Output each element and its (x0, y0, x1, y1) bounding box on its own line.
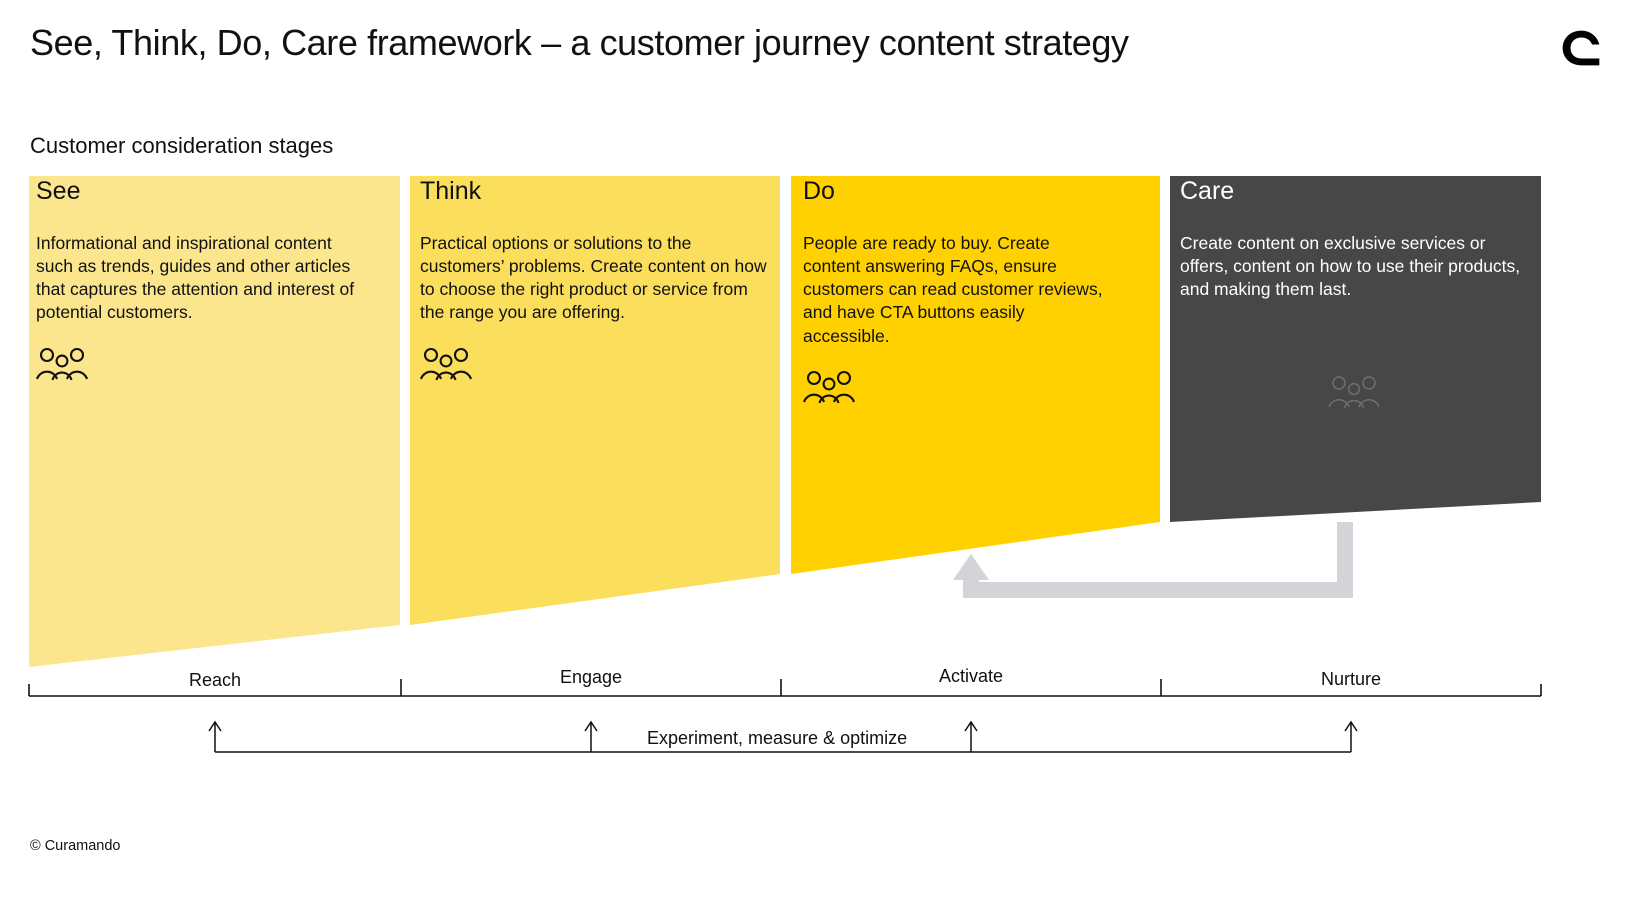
care-to-do-loop-arrow (953, 522, 1353, 598)
stage-title-see: See (36, 178, 366, 206)
stage-description-see: Informational and inspirational content … (36, 232, 366, 325)
group-people-icon (1328, 375, 1530, 414)
stage-board: See Informational and inspirational cont… (0, 170, 1627, 680)
page-title: See, Think, Do, Care framework – a custo… (30, 22, 1129, 64)
stage-panel-do[interactable]: Do People are ready to buy. Create conte… (803, 178, 1103, 409)
experiment-label: Experiment, measure & optimize (637, 728, 917, 749)
experiment-band: Experiment, measure & optimize (0, 700, 1627, 780)
stage-panel-care[interactable]: Care Create content on exclusive service… (1180, 178, 1530, 414)
axis-label-activate: Activate (781, 666, 1161, 687)
axis-label-reach: Reach (29, 670, 401, 691)
stage-title-care: Care (1180, 178, 1530, 206)
group-people-icon (420, 347, 770, 386)
axis-label-engage: Engage (401, 667, 781, 688)
stage-panel-see[interactable]: See Informational and inspirational cont… (36, 178, 366, 386)
stage-title-think: Think (420, 178, 770, 206)
axis-label-nurture: Nurture (1161, 669, 1541, 690)
stage-panel-think[interactable]: Think Practical options or solutions to … (420, 178, 770, 386)
curamando-logo-icon (1559, 26, 1603, 70)
stage-title-do: Do (803, 178, 1103, 206)
section-subtitle: Customer consideration stages (30, 133, 333, 159)
group-people-icon (36, 347, 366, 386)
group-people-icon (803, 370, 1103, 409)
stage-description-care: Create content on exclusive services or … (1180, 232, 1530, 302)
stage-description-think: Practical options or solutions to the cu… (420, 232, 770, 325)
stage-description-do: People are ready to buy. Create content … (803, 232, 1103, 348)
footer-credit: © Curamando (30, 838, 120, 854)
